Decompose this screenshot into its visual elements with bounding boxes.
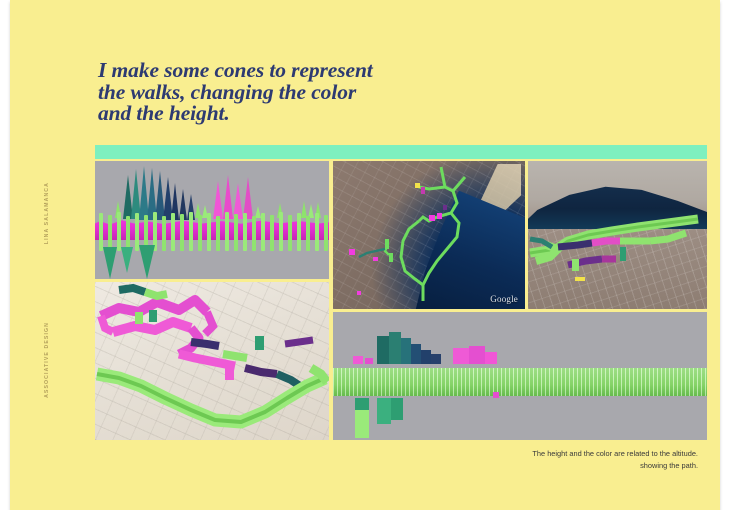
- page-bottom-margin: [0, 510, 730, 518]
- panel-profile-strip: [333, 312, 707, 440]
- extruded-route-3d: [528, 161, 707, 309]
- sidebar-author-label: LINA SALAMANCA: [44, 182, 50, 244]
- caption-line-2: showing the path.: [398, 460, 698, 472]
- panel-cones-elevation-view: [95, 161, 329, 279]
- panel-aerial-3d-view[interactable]: [528, 161, 707, 309]
- panel-satellite-map[interactable]: Google: [333, 161, 525, 309]
- page-title-line-2: the walks, changing the color: [98, 82, 458, 104]
- extruded-paths-3d: [95, 282, 329, 440]
- sidebar-course-label: ASSOCIATIVE DESIGN: [44, 322, 50, 398]
- walking-route-overlay: [333, 161, 525, 309]
- caption-line-1: The height and the color are related to …: [398, 448, 698, 460]
- panel-city-plan-3d[interactable]: [95, 282, 329, 440]
- page-title-line-1: I make some cones to represent: [98, 60, 458, 82]
- image-board: Google: [95, 145, 707, 440]
- page-title-line-3: and the height.: [98, 103, 458, 125]
- google-watermark: Google: [490, 294, 518, 304]
- profile-foreground-columns: [333, 312, 707, 440]
- mint-header-strip: [95, 145, 707, 159]
- slide-page: LINA SALAMANCA ASSOCIATIVE DESIGN I make…: [10, 0, 720, 510]
- board-caption: The height and the color are related to …: [398, 448, 698, 471]
- page-title: I make some cones to represent the walks…: [98, 60, 458, 125]
